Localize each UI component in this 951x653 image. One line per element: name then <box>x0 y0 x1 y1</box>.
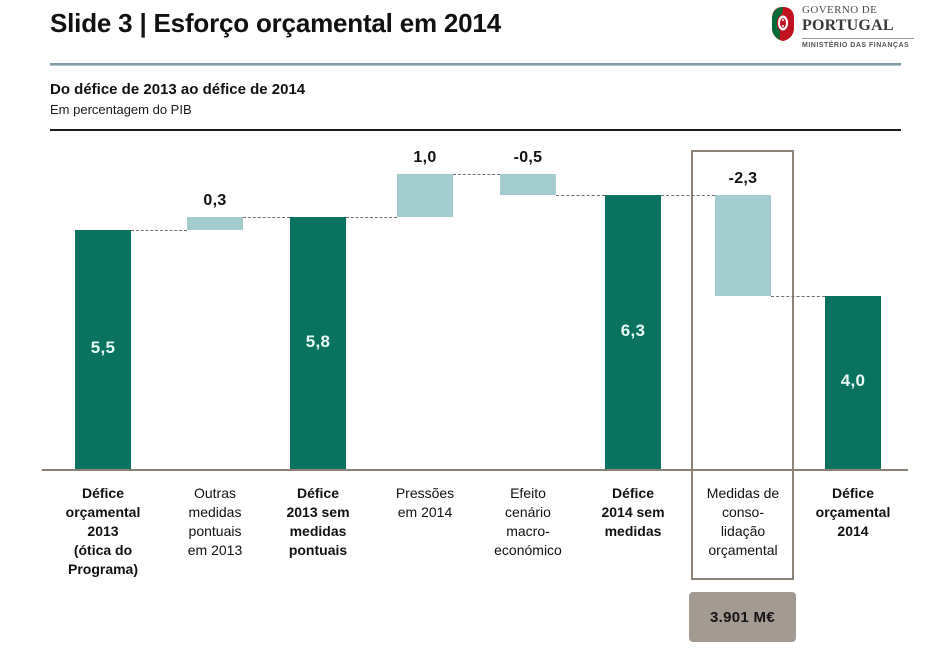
connector-6 <box>661 195 715 196</box>
x-axis-line <box>42 469 908 471</box>
bar-value-label-2: 0,3 <box>175 192 255 210</box>
callout-box-consolidation-amount: 3.901 M€ <box>689 592 796 642</box>
connector-5 <box>556 195 605 196</box>
bar-7-delta <box>715 195 771 295</box>
bar-4-delta <box>397 174 453 218</box>
callout-value: 3.901 M€ <box>710 609 775 626</box>
connector-3 <box>346 217 397 218</box>
waterfall-chart: 5,50,35,81,0-0,56,3-2,34,0 Déficeorçamen… <box>0 0 951 653</box>
bar-5-delta <box>500 174 556 196</box>
bar-value-label-3: 5,8 <box>290 332 346 352</box>
bar-value-label-1: 5,5 <box>75 338 131 358</box>
x-axis-label-5: Efeitocenáriomacro-económico <box>476 484 580 560</box>
x-axis-label-6: Défice2014 semmedidas <box>581 484 685 541</box>
x-axis-label-4: Pressõesem 2014 <box>373 484 477 522</box>
x-axis-label-2: Outrasmedidaspontuaisem 2013 <box>163 484 267 560</box>
connector-2 <box>243 217 290 218</box>
x-axis-label-1: Déficeorçamental2013(ótica doPrograma) <box>51 484 155 579</box>
x-axis-label-3: Défice2013 semmedidaspontuais <box>266 484 370 560</box>
bar-value-label-5: -0,5 <box>488 149 568 167</box>
bar-value-label-8: 4,0 <box>825 371 881 391</box>
x-axis-label-8: Déficeorçamental2014 <box>801 484 905 541</box>
bar-2-delta <box>187 217 243 230</box>
bar-value-label-4: 1,0 <box>385 149 465 167</box>
connector-1 <box>131 230 187 231</box>
bar-value-label-7: -2,3 <box>703 170 783 188</box>
connector-7 <box>771 296 825 297</box>
x-axis-label-7: Medidas deconso-lidaçãoorçamental <box>691 484 795 560</box>
connector-4 <box>453 174 500 175</box>
bar-value-label-6: 6,3 <box>605 321 661 341</box>
